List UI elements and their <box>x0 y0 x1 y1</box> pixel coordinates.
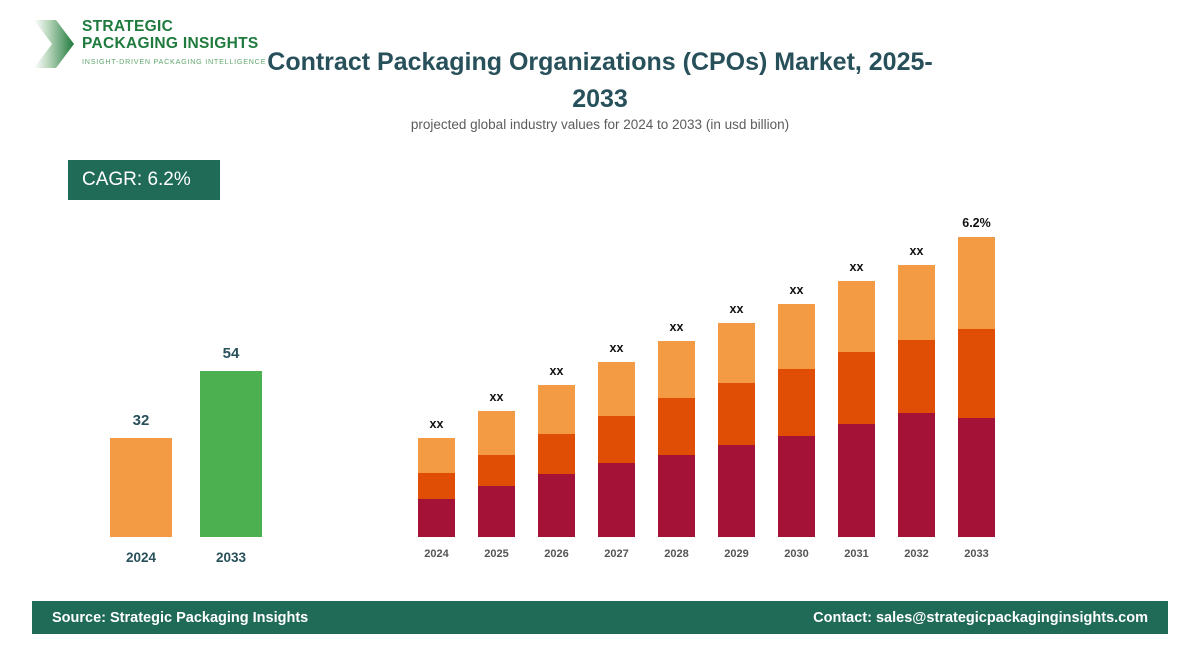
stacked-bar-category-label: 2030 <box>767 548 827 560</box>
stack-segment-segment-1 <box>538 474 575 537</box>
stacked-bar-value-label: xx <box>887 244 947 258</box>
bar-fill <box>200 371 262 538</box>
stack-segment-segment-3 <box>958 237 995 329</box>
stacked-bar-value-label: xx <box>587 341 647 355</box>
stack-segment-segment-1 <box>958 418 995 537</box>
stacked-bar-2026 <box>538 385 575 538</box>
stack-segment-segment-3 <box>478 411 515 455</box>
stacked-bar-2033 <box>958 237 995 537</box>
stack-segment-segment-2 <box>658 398 695 455</box>
stacked-bar-category-label: 2027 <box>587 548 647 560</box>
stacked-bar-category-label: 2026 <box>527 548 587 560</box>
logo-tagline: INSIGHT-DRIVEN PACKAGING INTELLIGENCE <box>82 57 266 66</box>
logo-line-1: STRATEGIC <box>82 18 266 35</box>
stack-segment-segment-2 <box>838 352 875 423</box>
stacked-bar-value-label: xx <box>467 390 527 404</box>
stack-segment-segment-1 <box>418 499 455 537</box>
stack-segment-segment-1 <box>478 486 515 537</box>
bar-2024 <box>110 438 172 537</box>
stacked-bar-value-label: xx <box>527 364 587 378</box>
stack-segment-segment-3 <box>778 304 815 369</box>
stacked-bar-category-label: 2031 <box>827 548 887 560</box>
bar-value-label: 32 <box>110 412 172 429</box>
stacked-bar-value-label: xx <box>407 417 467 431</box>
stacked-bar-category-label: 2024 <box>407 548 467 560</box>
stack-segment-segment-1 <box>838 424 875 537</box>
bar-value-label: 54 <box>200 345 262 362</box>
footer-contact[interactable]: Contact: sales@strategicpackaginginsight… <box>813 610 1148 626</box>
stack-segment-segment-2 <box>418 473 455 499</box>
bar-2033 <box>200 371 262 538</box>
page-title: Contract Packaging Organizations (CPOs) … <box>250 44 950 118</box>
bar-fill <box>110 438 172 537</box>
logo-line-2: PACKAGING INSIGHTS <box>82 35 266 52</box>
cagr-badge: CAGR: 6.2% <box>68 160 220 200</box>
stack-segment-segment-2 <box>898 340 935 412</box>
stack-segment-segment-1 <box>778 436 815 537</box>
stacked-bar-2032 <box>898 265 935 537</box>
logo: STRATEGIC PACKAGING INSIGHTS INSIGHT-DRI… <box>32 14 252 76</box>
stack-segment-segment-2 <box>478 455 515 486</box>
stacked-bar-category-label: 2028 <box>647 548 707 560</box>
stack-segment-segment-3 <box>838 281 875 352</box>
chart-infographic: STRATEGIC PACKAGING INSIGHTS INSIGHT-DRI… <box>0 0 1200 650</box>
stacked-bar-2025 <box>478 411 515 537</box>
stacked-bar-2029 <box>718 323 755 537</box>
stack-segment-segment-2 <box>538 434 575 474</box>
segmented-forecast-chart: xx2024xx2025xx2026xx2027xx2028xx2029xx20… <box>410 195 1010 560</box>
stacked-bar-2024 <box>418 438 455 537</box>
stacked-bar-category-label: 2032 <box>887 548 947 560</box>
stack-segment-segment-3 <box>658 341 695 397</box>
stacked-bar-2027 <box>598 362 635 537</box>
footer-source: Source: Strategic Packaging Insights <box>52 610 308 626</box>
stacked-bar-value-label: xx <box>647 320 707 334</box>
stack-segment-segment-1 <box>658 455 695 537</box>
stacked-bar-value-label: xx <box>707 302 767 316</box>
endpoint-comparison-chart: 322024542033 <box>55 300 270 565</box>
stack-segment-segment-2 <box>958 329 995 417</box>
stack-segment-segment-2 <box>598 416 635 463</box>
cagr-badge-label: CAGR: 6.2% <box>82 169 191 191</box>
stack-segment-segment-3 <box>718 323 755 383</box>
stack-segment-segment-3 <box>418 438 455 473</box>
stacked-bar-value-label: xx <box>827 260 887 274</box>
stacked-bar-2028 <box>658 341 695 537</box>
stack-segment-segment-3 <box>898 265 935 340</box>
chevron-right-icon <box>32 18 76 70</box>
stacked-bar-category-label: 2025 <box>467 548 527 560</box>
stack-segment-segment-1 <box>718 445 755 537</box>
bar-category-label: 2033 <box>200 550 262 565</box>
stack-segment-segment-2 <box>718 383 755 444</box>
stacked-bar-2031 <box>838 281 875 537</box>
stack-segment-segment-3 <box>538 385 575 434</box>
page-subtitle: projected global industry values for 202… <box>250 117 950 132</box>
stacked-bar-category-label: 2033 <box>947 548 1007 560</box>
stacked-bar-category-label: 2029 <box>707 548 767 560</box>
stacked-bar-value-label: 6.2% <box>947 216 1007 230</box>
stack-segment-segment-1 <box>598 463 635 537</box>
stacked-bar-2030 <box>778 304 815 537</box>
footer-bar: Source: Strategic Packaging Insights Con… <box>32 601 1168 634</box>
stacked-bar-value-label: xx <box>767 283 827 297</box>
bar-category-label: 2024 <box>110 550 172 565</box>
stack-segment-segment-2 <box>778 369 815 435</box>
stack-segment-segment-1 <box>898 413 935 537</box>
stack-segment-segment-3 <box>598 362 635 415</box>
